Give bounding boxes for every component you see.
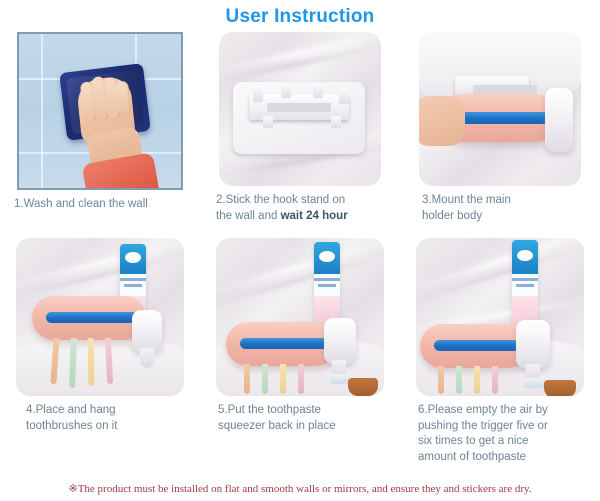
caption-line: 2.Stick the hook stand on bbox=[216, 194, 345, 206]
bracket-tab bbox=[263, 116, 273, 128]
toothpaste-tube bbox=[314, 242, 340, 322]
step-card-3: 3.Mount the main holder body bbox=[400, 32, 600, 224]
step-card-6: 6.Please empty the air by pushing the tr… bbox=[400, 238, 600, 465]
hook-bracket bbox=[455, 76, 529, 96]
toothbrush bbox=[262, 364, 268, 394]
caption-line: amount of toothpaste bbox=[418, 451, 526, 463]
step-caption-3: 3.Mount the main holder body bbox=[400, 186, 600, 224]
step-card-5: 5.Put the toothpaste squeezer back in pl… bbox=[200, 238, 400, 465]
cup bbox=[544, 380, 576, 396]
step-caption-2: 2.Stick the hook stand on the wall and w… bbox=[200, 186, 400, 224]
holder-blue-strip bbox=[434, 340, 522, 351]
step-photo-6 bbox=[416, 238, 584, 396]
caption-line: toothbrushes on it bbox=[26, 420, 117, 432]
toothbrush bbox=[244, 364, 250, 394]
step-card-1: 1.Wash and clean the wall bbox=[0, 32, 200, 224]
reference-mark-icon: ※ bbox=[68, 483, 77, 495]
caption-emphasis: wait 24 hour bbox=[281, 210, 348, 222]
step-photo-2 bbox=[219, 32, 381, 186]
caption-line: 3.Mount the main bbox=[422, 194, 511, 206]
caption-line: squeezer back in place bbox=[218, 420, 336, 432]
dispensed-toothpaste bbox=[524, 378, 544, 388]
caption-line: 4.Place and hang bbox=[26, 404, 116, 416]
cup bbox=[348, 378, 378, 396]
toothbrush bbox=[456, 366, 462, 394]
caption-line: pushing the trigger five or bbox=[418, 420, 548, 432]
footer-text: The product must be installed on flat an… bbox=[78, 483, 532, 495]
step-caption-1: 1.Wash and clean the wall bbox=[0, 190, 200, 213]
holder-blue-strip bbox=[240, 338, 330, 349]
bracket-tab bbox=[281, 84, 291, 98]
toothpaste-dispenser bbox=[516, 320, 550, 368]
bracket-tab bbox=[331, 116, 341, 128]
step-photo-3 bbox=[419, 32, 581, 186]
dispensed-toothpaste bbox=[330, 374, 350, 384]
step-photo-1 bbox=[17, 32, 183, 190]
bracket-tab bbox=[313, 84, 323, 98]
footer-note: ※The product must be installed on flat a… bbox=[0, 482, 600, 495]
toothbrush bbox=[88, 338, 95, 386]
step-card-4: 4.Place and hang toothbrushes on it bbox=[0, 238, 200, 465]
step-card-2: 2.Stick the hook stand on the wall and w… bbox=[200, 32, 400, 224]
toothpaste-dispenser bbox=[132, 310, 162, 352]
instruction-row-2: 4.Place and hang toothbrushes on it bbox=[0, 238, 600, 465]
instruction-row-1: 1.Wash and clean the wall 2.Sti bbox=[0, 32, 600, 224]
toothbrush bbox=[280, 364, 286, 394]
dispenser-nozzle bbox=[140, 348, 154, 368]
bracket-tab bbox=[253, 86, 263, 102]
toothpaste-dispenser bbox=[324, 318, 356, 364]
holder-blue-strip bbox=[455, 112, 551, 124]
caption-line: 1.Wash and clean the wall bbox=[14, 198, 148, 210]
tile-grout-line bbox=[41, 34, 43, 188]
caption-line: six times to get a nice bbox=[418, 435, 529, 447]
step-caption-6: 6.Please empty the air by pushing the tr… bbox=[400, 396, 600, 465]
caption-line: the wall and bbox=[216, 210, 281, 222]
caption-line: 6.Please empty the air by bbox=[418, 404, 548, 416]
toothbrush bbox=[492, 366, 498, 394]
caption-line: 5.Put the toothpaste bbox=[218, 404, 321, 416]
bracket-tab bbox=[339, 88, 349, 104]
toothbrush bbox=[298, 364, 304, 394]
step-photo-4 bbox=[16, 238, 184, 396]
toothbrush bbox=[474, 366, 480, 394]
hand bbox=[419, 96, 465, 146]
toothpaste-dispenser bbox=[545, 88, 573, 152]
instruction-grid: 1.Wash and clean the wall 2.Sti bbox=[0, 32, 600, 465]
toothpaste-tube bbox=[512, 240, 538, 326]
toothbrush bbox=[438, 366, 444, 394]
holder-blue-strip bbox=[46, 312, 138, 323]
step-photo-5 bbox=[216, 238, 384, 396]
page-title: User Instruction bbox=[0, 0, 600, 30]
step-caption-5: 5.Put the toothpaste squeezer back in pl… bbox=[200, 396, 400, 434]
caption-line: holder body bbox=[422, 210, 482, 222]
step-caption-4: 4.Place and hang toothbrushes on it bbox=[0, 396, 200, 434]
